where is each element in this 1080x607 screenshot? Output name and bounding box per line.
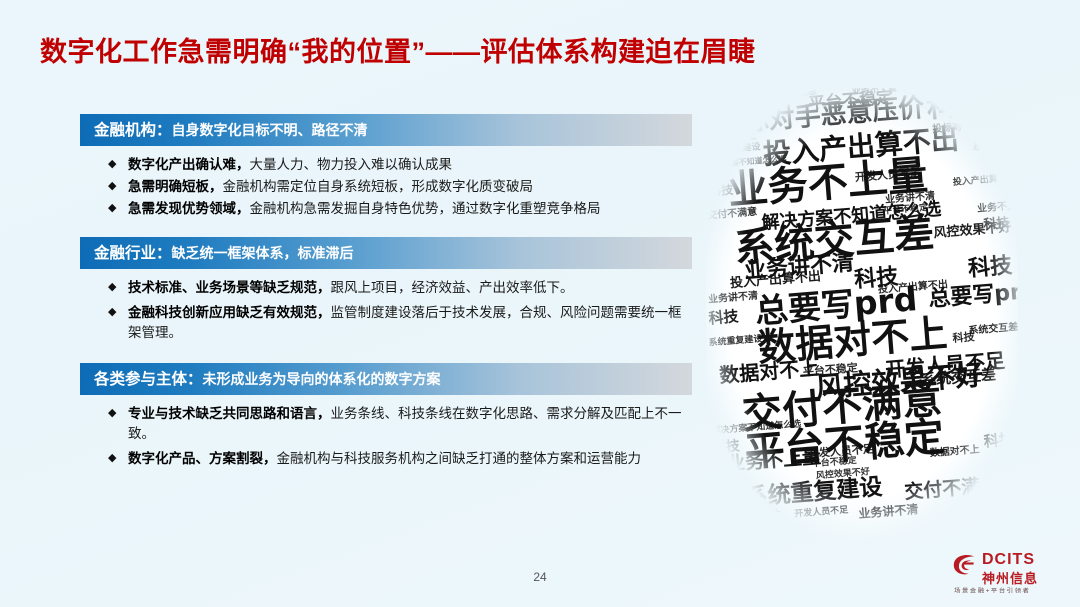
- word-cloud-term: 数据对不上: [736, 510, 782, 523]
- word-cloud-term: 系统重复建设: [744, 476, 883, 510]
- section-header-rest: 未形成业务为导向的体系化的数字方案: [203, 371, 441, 387]
- section-financial-industry: 金融行业：缺乏统一框架体系，标准滞后 ◆技术标准、业务场景等缺乏规范，跟风上项目…: [80, 237, 692, 343]
- page-number: 24: [0, 570, 1080, 584]
- bullet-lead: 急需明确短板，: [128, 179, 223, 194]
- word-cloud-term: 科技: [983, 217, 1010, 232]
- section-financial-institution: 金融机构：自身数字化目标不明、路径不清 ◆数字化产出确认难，大量人力、物力投入难…: [80, 114, 692, 219]
- word-cloud-image: 投标对手恶意压价平台不稳定科技业务不上量交付不满意投入产出算不出业务不上量解决方…: [706, 88, 1018, 538]
- bullet-text: 金融机构需定位自身系统短板，形成数字化质变破局: [223, 179, 534, 194]
- dcits-swirl-icon: [952, 553, 978, 577]
- company-logo: DCITS 神州信息 场景金融+平台引领者: [950, 547, 1070, 599]
- bullet-lead: 数字化产品、方案割裂，: [128, 451, 277, 466]
- list-item: ◆急需发现优势领域，金融机构急需发掘自身特色优势，通过数字化重塑竞争格局: [108, 199, 692, 219]
- bullet-lead: 技术标准、业务场景等缺乏规范，: [128, 280, 331, 295]
- word-cloud-term: 数据对不上: [929, 445, 980, 459]
- content-column: 金融机构：自身数字化目标不明、路径不清 ◆数字化产出确认难，大量人力、物力投入难…: [80, 114, 692, 474]
- bullet-lead: 急需发现优势领域，: [128, 201, 250, 216]
- word-cloud-term: 系统重复建设: [708, 335, 763, 348]
- list-item: ◆专业与技术缺乏共同思路和语言，业务条线、科技条线在数字化思路、需求分解及匹配上…: [108, 404, 692, 444]
- word-cloud-term: 科技: [926, 89, 986, 123]
- word-cloud-term: 业务讲不清: [858, 503, 919, 520]
- slide-canvas: 数字化工作急需明确“我的位置”——评估体系构建迫在眉睫 金融机构：自身数字化目标…: [0, 0, 1080, 607]
- diamond-bullet-icon: ◆: [108, 178, 116, 195]
- bullet-text: 大量人力、物力投入难以确认成果: [250, 157, 453, 172]
- bullet-lead: 专业与技术缺乏共同思路和语言，: [128, 406, 331, 421]
- bullet-lead: 数字化产出确认难，: [128, 157, 250, 172]
- section-header-lead: 金融机构：: [94, 122, 172, 139]
- word-cloud-term: 科技: [709, 184, 734, 198]
- logo-name-cn: 神州信息: [982, 568, 1038, 587]
- list-item: ◆金融科技创新应用缺乏有效规范，监管制度建设落后于技术发展，合规、风险问题需要统…: [108, 303, 692, 343]
- word-cloud-canvas: 投标对手恶意压价平台不稳定科技业务不上量交付不满意投入产出算不出业务不上量解决方…: [706, 88, 1018, 538]
- list-item: ◆数字化产出确认难，大量人力、物力投入难以确认成果: [108, 155, 692, 175]
- word-cloud-term: 系统重复建设: [706, 143, 761, 156]
- diamond-bullet-icon: ◆: [108, 156, 116, 173]
- list-item: ◆急需明确短板，金融机构需定位自身系统短板，形成数字化质变破局: [108, 177, 692, 197]
- word-cloud-term: 科技: [967, 255, 1013, 280]
- word-cloud-term: 交付不满意: [707, 208, 758, 222]
- word-cloud-term: 科技: [952, 331, 975, 344]
- bullet-text: 跟风上项目，经济效益、产出效率低下。: [331, 280, 574, 295]
- word-cloud-term: 科技: [983, 432, 1014, 449]
- word-cloud-term: 业务不上量: [977, 201, 1018, 215]
- diamond-bullet-icon: ◆: [108, 405, 116, 422]
- bullet-list: ◆专业与技术缺乏共同思路和语言，业务条线、科技条线在数字化思路、需求分解及匹配上…: [80, 404, 692, 469]
- bullet-text: 金融机构急需发掘自身特色优势，通过数字化重塑竞争格局: [250, 201, 601, 216]
- word-cloud-term: 科技: [711, 439, 740, 455]
- bullet-list: ◆数字化产出确认难，大量人力、物力投入难以确认成果 ◆急需明确短板，金融机构需定…: [80, 155, 692, 219]
- section-header-lead: 金融行业：: [94, 245, 172, 262]
- word-cloud-term: 业务讲不清: [708, 292, 759, 306]
- bullet-text: 金融机构与科技服务机构之间缺乏打通的整体方案和运营能力: [277, 451, 642, 466]
- section-header-bar: 金融机构：自身数字化目标不明、路径不清: [80, 114, 692, 146]
- section-header-bar: 各类参与主体：未形成业务为导向的体系化的数字方案: [80, 363, 692, 395]
- word-cloud-term: 系统交互差: [972, 136, 1018, 151]
- logo-name-en: DCITS: [982, 551, 1035, 569]
- list-item: ◆技术标准、业务场景等缺乏规范，跟风上项目，经济效益、产出效率低下。: [108, 278, 692, 298]
- section-header-rest: 缺乏统一框架体系，标准滞后: [172, 245, 354, 261]
- bullet-list: ◆技术标准、业务场景等缺乏规范，跟风上项目，经济效益、产出效率低下。 ◆金融科技…: [80, 278, 692, 343]
- word-cloud-term: 系统交互差: [968, 323, 1018, 337]
- section-participants: 各类参与主体：未形成业务为导向的体系化的数字方案 ◆专业与技术缺乏共同思路和语言…: [80, 363, 692, 469]
- word-cloud-term: 交付不满意: [904, 476, 1000, 503]
- diamond-bullet-icon: ◆: [108, 200, 116, 217]
- diamond-bullet-icon: ◆: [108, 304, 116, 321]
- section-header-bar: 金融行业：缺乏统一框架体系，标准滞后: [80, 237, 692, 269]
- word-cloud-term: 开发人员不足: [794, 506, 849, 519]
- bullet-lead: 金融科技创新应用缺乏有效规范，: [128, 305, 331, 320]
- word-cloud-term: 投入产出算不出: [953, 174, 1017, 188]
- list-item: ◆数字化产品、方案割裂，金融机构与科技服务机构之间缺乏打通的整体方案和运营能力: [108, 449, 692, 469]
- section-header-lead: 各类参与主体：: [94, 371, 203, 388]
- diamond-bullet-icon: ◆: [108, 279, 116, 296]
- word-cloud-term: 科技: [708, 309, 739, 326]
- logo-tagline: 场景金融+平台引领者: [954, 586, 1030, 595]
- page-title: 数字化工作急需明确“我的位置”——评估体系构建迫在眉睫: [40, 30, 756, 69]
- diamond-bullet-icon: ◆: [108, 450, 116, 467]
- section-header-rest: 自身数字化目标不明、路径不清: [172, 122, 368, 138]
